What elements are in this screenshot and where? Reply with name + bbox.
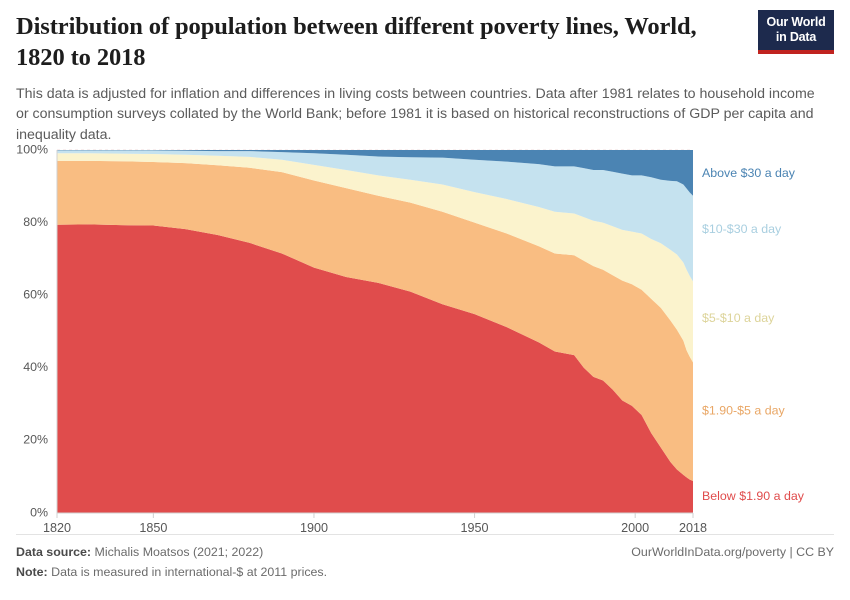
owid-logo-underline bbox=[758, 50, 834, 54]
note-value: Data is measured in international-$ at 2… bbox=[48, 565, 327, 579]
y-axis-tick-label: 20% bbox=[23, 433, 48, 447]
legend-label-4[interactable]: $1.90-$5 a day bbox=[702, 404, 785, 418]
source-value: Michalis Moatsos (2021; 2022) bbox=[91, 545, 263, 559]
legend-label-3[interactable]: $5-$10 a day bbox=[702, 311, 775, 325]
legend-label-1[interactable]: Above $30 a day bbox=[702, 166, 796, 180]
owid-chart-page: Distribution of population between diffe… bbox=[0, 0, 850, 600]
owid-logo[interactable]: Our World in Data bbox=[758, 10, 834, 54]
chart-subtitle: This data is adjusted for inflation and … bbox=[16, 84, 816, 146]
chart-canvas[interactable]: 0%20%40%60%80%100%1820185019001950200020… bbox=[0, 140, 850, 535]
y-axis-tick-label: 0% bbox=[30, 505, 48, 519]
chart-footer: Data source: Michalis Moatsos (2021; 202… bbox=[16, 542, 834, 582]
owid-logo-line1: Our World bbox=[758, 15, 834, 30]
owid-logo-line2: in Data bbox=[758, 30, 834, 45]
x-axis-tick-label: 1820 bbox=[43, 521, 71, 535]
x-axis-tick-label: 2018 bbox=[679, 521, 707, 535]
y-axis-tick-label: 80% bbox=[23, 215, 48, 229]
source-label: Data source: bbox=[16, 545, 91, 559]
footer-note-row: Note: Data is measured in international-… bbox=[16, 562, 834, 582]
page-title: Distribution of population between diffe… bbox=[16, 12, 726, 74]
attribution-link[interactable]: OurWorldInData.org/poverty | CC BY bbox=[631, 542, 834, 562]
y-axis-tick-label: 100% bbox=[16, 142, 48, 156]
chart-header: Distribution of population between diffe… bbox=[16, 12, 834, 146]
x-axis-tick-label: 2000 bbox=[621, 521, 649, 535]
note-label: Note: bbox=[16, 565, 48, 579]
legend-label-5[interactable]: Below $1.90 a day bbox=[702, 489, 805, 503]
y-axis-tick-label: 40% bbox=[23, 360, 48, 374]
x-axis-tick-label: 1850 bbox=[139, 521, 167, 535]
legend-label-2[interactable]: $10-$30 a day bbox=[702, 222, 782, 236]
x-axis-tick-label: 1900 bbox=[300, 521, 328, 535]
footer-source-row: Data source: Michalis Moatsos (2021; 202… bbox=[16, 542, 834, 562]
y-axis-tick-label: 60% bbox=[23, 287, 48, 301]
x-axis-tick-label: 1950 bbox=[461, 521, 489, 535]
footer-divider bbox=[16, 534, 834, 535]
stacked-area-chart[interactable]: 0%20%40%60%80%100%1820185019001950200020… bbox=[0, 140, 850, 535]
